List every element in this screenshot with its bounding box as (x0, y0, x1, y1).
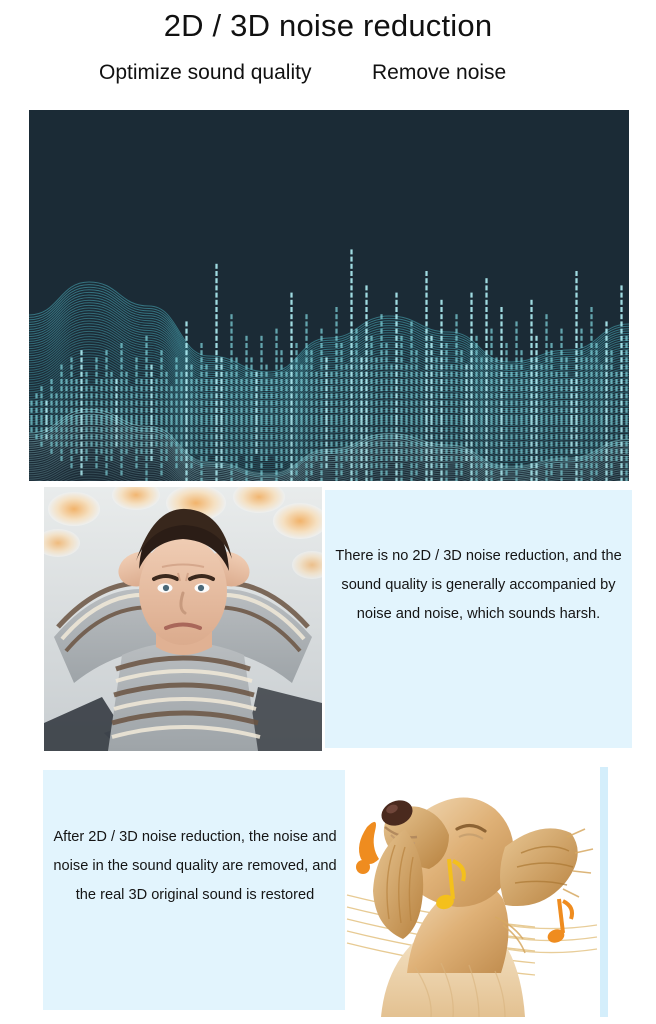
section-after-noise-reduction: After 2D / 3D noise reduction, the noise… (43, 767, 608, 1017)
text-before-noise-reduction: There is no 2D / 3D noise reduction, and… (325, 542, 632, 629)
photo-frustrated-man (44, 487, 322, 751)
photo-dog-listening-music (345, 767, 601, 1017)
text-panel-after: After 2D / 3D noise reduction, the noise… (43, 770, 347, 1010)
text-after-noise-reduction: After 2D / 3D noise reduction, the noise… (43, 823, 347, 910)
text-panel-before: There is no 2D / 3D noise reduction, and… (325, 490, 632, 748)
section-before-noise-reduction: There is no 2D / 3D noise reduction, and… (44, 487, 632, 751)
decorative-blue-strip (600, 767, 608, 1017)
page-header: 2D / 3D noise reduction (0, 0, 656, 46)
subtitle-row: Optimize sound quality Remove noise (0, 58, 656, 92)
subtitle-remove-noise: Remove noise (372, 58, 506, 88)
subtitle-optimize-sound-quality: Optimize sound quality (99, 58, 311, 88)
audio-waveform-graphic (29, 110, 629, 481)
page-title: 2D / 3D noise reduction (0, 0, 656, 46)
wave-ribbon-lines (29, 282, 629, 481)
waveform-svg (29, 110, 629, 481)
